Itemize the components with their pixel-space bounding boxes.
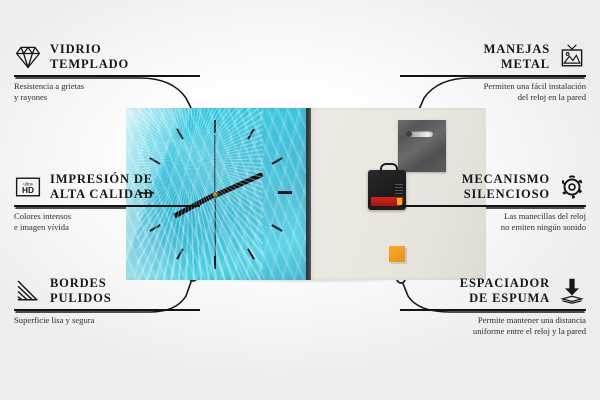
dial-tick: [214, 256, 216, 269]
second-hand-counter: [214, 135, 215, 195]
feature-manejas-metal: MANEJAS METAL Permiten una fácil instala…: [400, 42, 586, 102]
feature-divider: [14, 205, 200, 207]
gear-icon: [558, 173, 586, 201]
hanger-hole: [406, 131, 412, 137]
dial-tick: [214, 120, 216, 133]
arrow-down-stack-icon: [558, 277, 586, 305]
feature-divider: [14, 309, 200, 311]
dial-tick: [149, 157, 160, 165]
ultra-hd-icon: ultra HD: [14, 173, 42, 201]
feature-divider: [400, 309, 586, 311]
feature-divider: [14, 75, 200, 77]
hands-center-pin: [213, 192, 218, 197]
feature-mecanismo-silencioso: MECANISMO SILENCIOSO Las manecillas del …: [400, 172, 586, 232]
feature-divider: [400, 205, 586, 207]
feature-subtitle: Las manecillas del reloj no emiten ningú…: [400, 211, 586, 232]
feature-impresion-alta-calidad: ultra HD IMPRESIÓN DE ALTA CALIDAD Color…: [14, 172, 200, 232]
svg-text:HD: HD: [22, 185, 34, 195]
feature-subtitle: Permite mantener una distancia uniforme …: [400, 315, 586, 336]
feature-subtitle: Resistencia a grietas y rayones: [14, 81, 200, 102]
metal-hanger-plate: [398, 120, 446, 172]
mechanism-hang-loop: [380, 163, 398, 175]
dial-tick: [176, 128, 184, 139]
feature-bordes-pulidos: BORDES PULIDOS Superficie lisa y segura: [14, 276, 200, 326]
minute-hand: [214, 172, 264, 198]
feature-title: IMPRESIÓN DE ALTA CALIDAD: [50, 172, 154, 201]
feature-title: BORDES PULIDOS: [50, 276, 112, 305]
dial-tick: [176, 248, 184, 259]
dial-tick: [271, 157, 282, 165]
picture-frame-hanger-icon: [558, 43, 586, 71]
diamond-icon: [14, 43, 42, 71]
battery: [371, 197, 403, 206]
feature-subtitle: Superficie lisa y segura: [14, 315, 200, 326]
feature-title: MANEJAS METAL: [484, 42, 550, 71]
feature-title: VIDRIO TEMPLADO: [50, 42, 129, 71]
foam-spacer: [389, 246, 405, 262]
dial-tick: [278, 191, 292, 194]
feature-subtitle: Permiten una fácil instalación del reloj…: [400, 81, 586, 102]
dial-tick: [271, 224, 282, 232]
polished-edge-icon: [14, 277, 42, 305]
feature-vidrio-templado: VIDRIO TEMPLADO Resistencia a grietas y …: [14, 42, 200, 102]
dial-tick: [247, 128, 255, 139]
dial-tick: [247, 248, 255, 259]
feature-title: ESPACIADOR DE ESPUMA: [460, 276, 550, 305]
second-hand: [214, 195, 215, 257]
feature-espaciador-espuma: ESPACIADOR DE ESPUMA Permite mantener un…: [400, 276, 586, 336]
infographic-canvas: VIDRIO TEMPLADO Resistencia a grietas y …: [0, 0, 600, 400]
feature-divider: [400, 75, 586, 77]
feature-title: MECANISMO SILENCIOSO: [462, 172, 550, 201]
feature-subtitle: Colores intensos e imagen vívida: [14, 211, 200, 232]
